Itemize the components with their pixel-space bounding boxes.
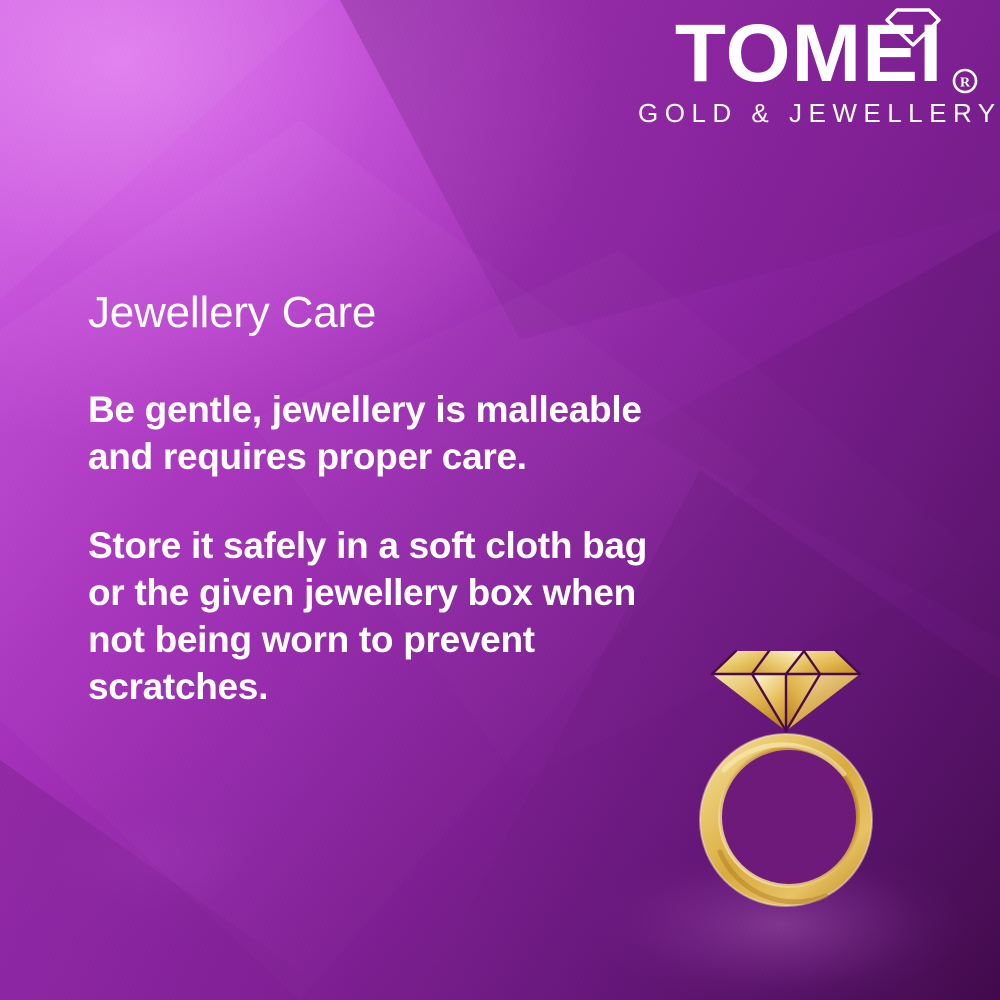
page-title: Jewellery Care xyxy=(88,286,668,340)
registered-trademark-icon: R xyxy=(952,68,978,94)
brand-tagline: GOLD & JEWELLERY xyxy=(638,98,978,128)
diamond-outline-icon xyxy=(884,7,942,47)
brand-logo: TOMEI R GOLD & JEWELLERY xyxy=(638,8,978,128)
copy-block: Jewellery Care Be gentle, jewellery is m… xyxy=(88,286,668,710)
left-ambient-glow xyxy=(0,760,360,960)
care-paragraph-1: Be gentle, jewellery is malleable and re… xyxy=(88,386,668,480)
diamond-ring-icon xyxy=(676,634,896,924)
svg-text:R: R xyxy=(960,76,971,91)
logo-wordmark-row: TOMEI R xyxy=(638,8,978,100)
care-paragraph-2: Store it safely in a soft cloth bag or t… xyxy=(88,522,668,710)
poster-canvas: TOMEI R GOLD & JEWELLERY Jewellery Care … xyxy=(0,0,1000,1000)
